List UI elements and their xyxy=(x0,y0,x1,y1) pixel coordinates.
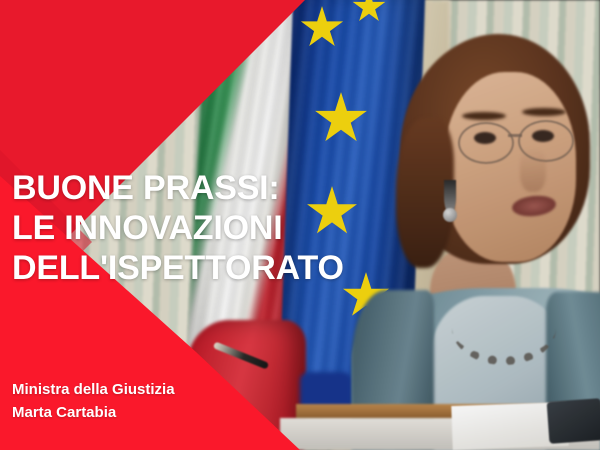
subtitle-line-2: Marta Cartabia xyxy=(12,401,352,424)
slide-title: BUONE PRASSI: LE INNOVAZIONI DELL'ISPETT… xyxy=(12,168,442,288)
slide-subtitle: Ministra della Giustizia Marta Cartabia xyxy=(12,378,352,424)
title-line-1: BUONE PRASSI: xyxy=(12,168,442,208)
title-line-2: LE INNOVAZIONI xyxy=(12,208,442,248)
video-slide: BUONE PRASSI: LE INNOVAZIONI DELL'ISPETT… xyxy=(0,0,600,450)
subtitle-line-1: Ministra della Giustizia xyxy=(12,378,352,401)
title-line-3: DELL'ISPETTORATO xyxy=(12,248,442,288)
